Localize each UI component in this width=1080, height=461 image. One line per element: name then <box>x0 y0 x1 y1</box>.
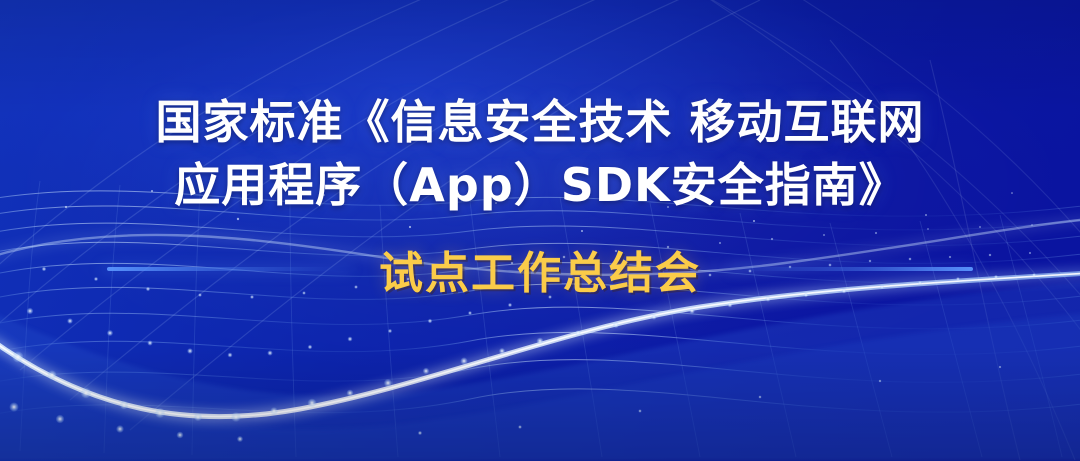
banner-image: 国家标准《信息安全技术 移动互联网 应用程序（App）SDK安全指南》 试点工作… <box>0 0 1080 461</box>
background-vignette <box>0 0 1080 461</box>
